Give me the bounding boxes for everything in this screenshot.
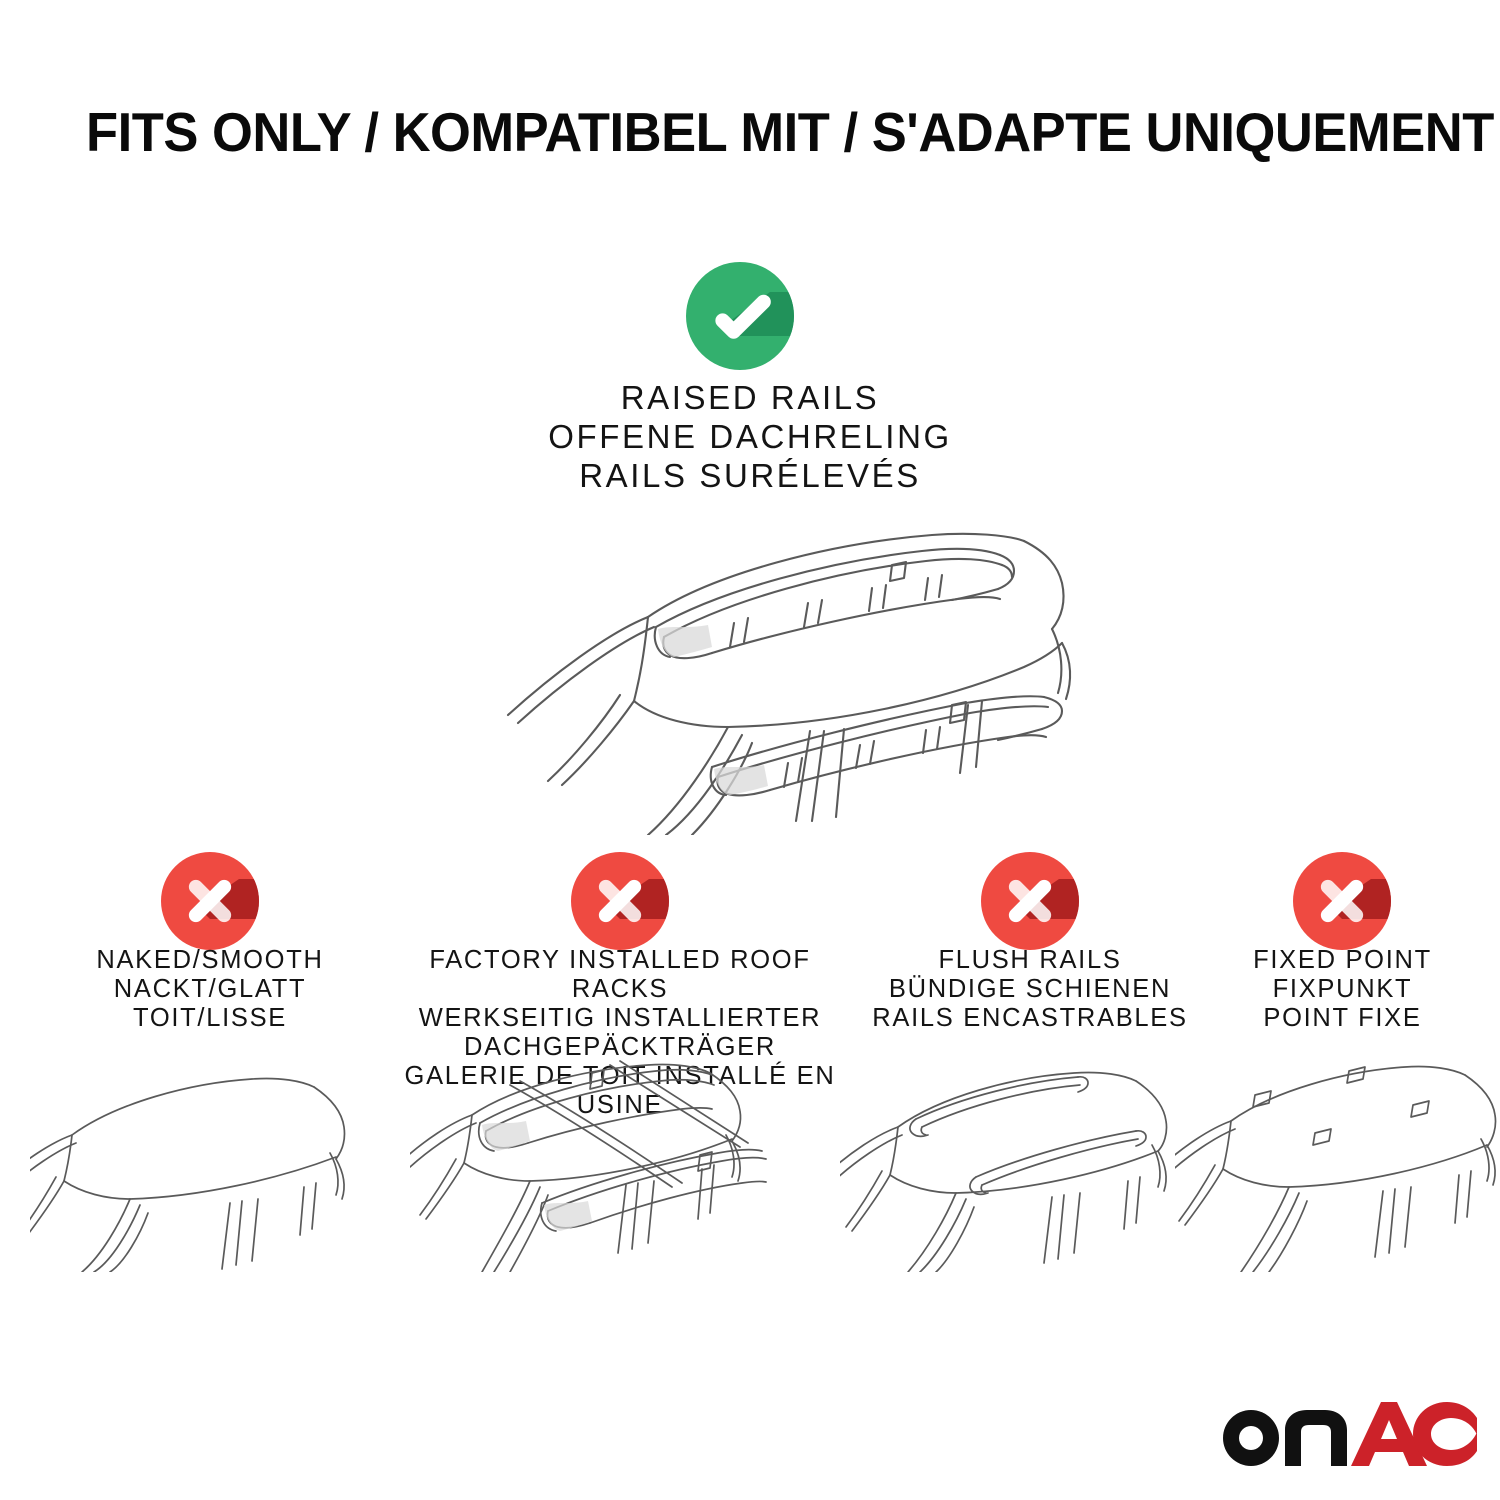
x-circle-icon: [981, 852, 1079, 950]
label-line: NACKT/GLATT: [20, 975, 400, 1004]
compatible-label-de: OFFENE DACHRELING: [350, 417, 1150, 456]
compatible-label-en: RAISED RAILS: [350, 378, 1150, 417]
check-circle-icon: [686, 262, 794, 370]
car-roof-with-raised-rails-illustration: [412, 505, 1102, 835]
page-title: FITS ONLY / KOMPATIBEL MIT / S'ADAPTE UN…: [86, 104, 1366, 162]
car-roof-fixed-point-illustration: [1175, 1057, 1500, 1272]
car-roof-flush-rails-illustration: [840, 1057, 1225, 1272]
incompatible-label-fixed-point: FIXED POINT FIXPUNKT POINT FIXE: [1215, 946, 1470, 1033]
label-line: FLUSH RAILS: [845, 946, 1215, 975]
label-line: FIXPUNKT: [1215, 975, 1470, 1004]
label-line: FACTORY INSTALLED ROOF RACKS: [400, 946, 840, 1004]
car-roof-factory-installed-roof-racks-illustration: [410, 1057, 810, 1272]
compatible-label: RAISED RAILS OFFENE DACHRELING RAILS SUR…: [350, 378, 1150, 495]
incompatible-label-flush-rails: FLUSH RAILS BÜNDIGE SCHIENEN RAILS ENCAS…: [845, 946, 1215, 1033]
incompatible-label-naked-smooth: NAKED/SMOOTH NACKT/GLATT TOIT/LISSE: [20, 946, 400, 1033]
x-circle-icon: [161, 852, 259, 950]
x-circle-icon: [571, 852, 669, 950]
label-line: NAKED/SMOOTH: [20, 946, 400, 975]
label-line: BÜNDIGE SCHIENEN: [845, 975, 1215, 1004]
x-circle-icon: [1293, 852, 1391, 950]
label-line: FIXED POINT: [1215, 946, 1470, 975]
compatible-label-fr: RAILS SURÉLEVÉS: [350, 456, 1150, 495]
label-line: TOIT/LISSE: [20, 1004, 400, 1033]
label-line: RAILS ENCASTRABLES: [845, 1004, 1215, 1033]
label-line: WERKSEITIG INSTALLIERTER: [400, 1004, 840, 1033]
label-line: POINT FIXE: [1215, 1004, 1470, 1033]
omac-logo: OMAC: [1215, 1398, 1477, 1470]
car-roof-naked-smooth-illustration: [30, 1057, 390, 1272]
